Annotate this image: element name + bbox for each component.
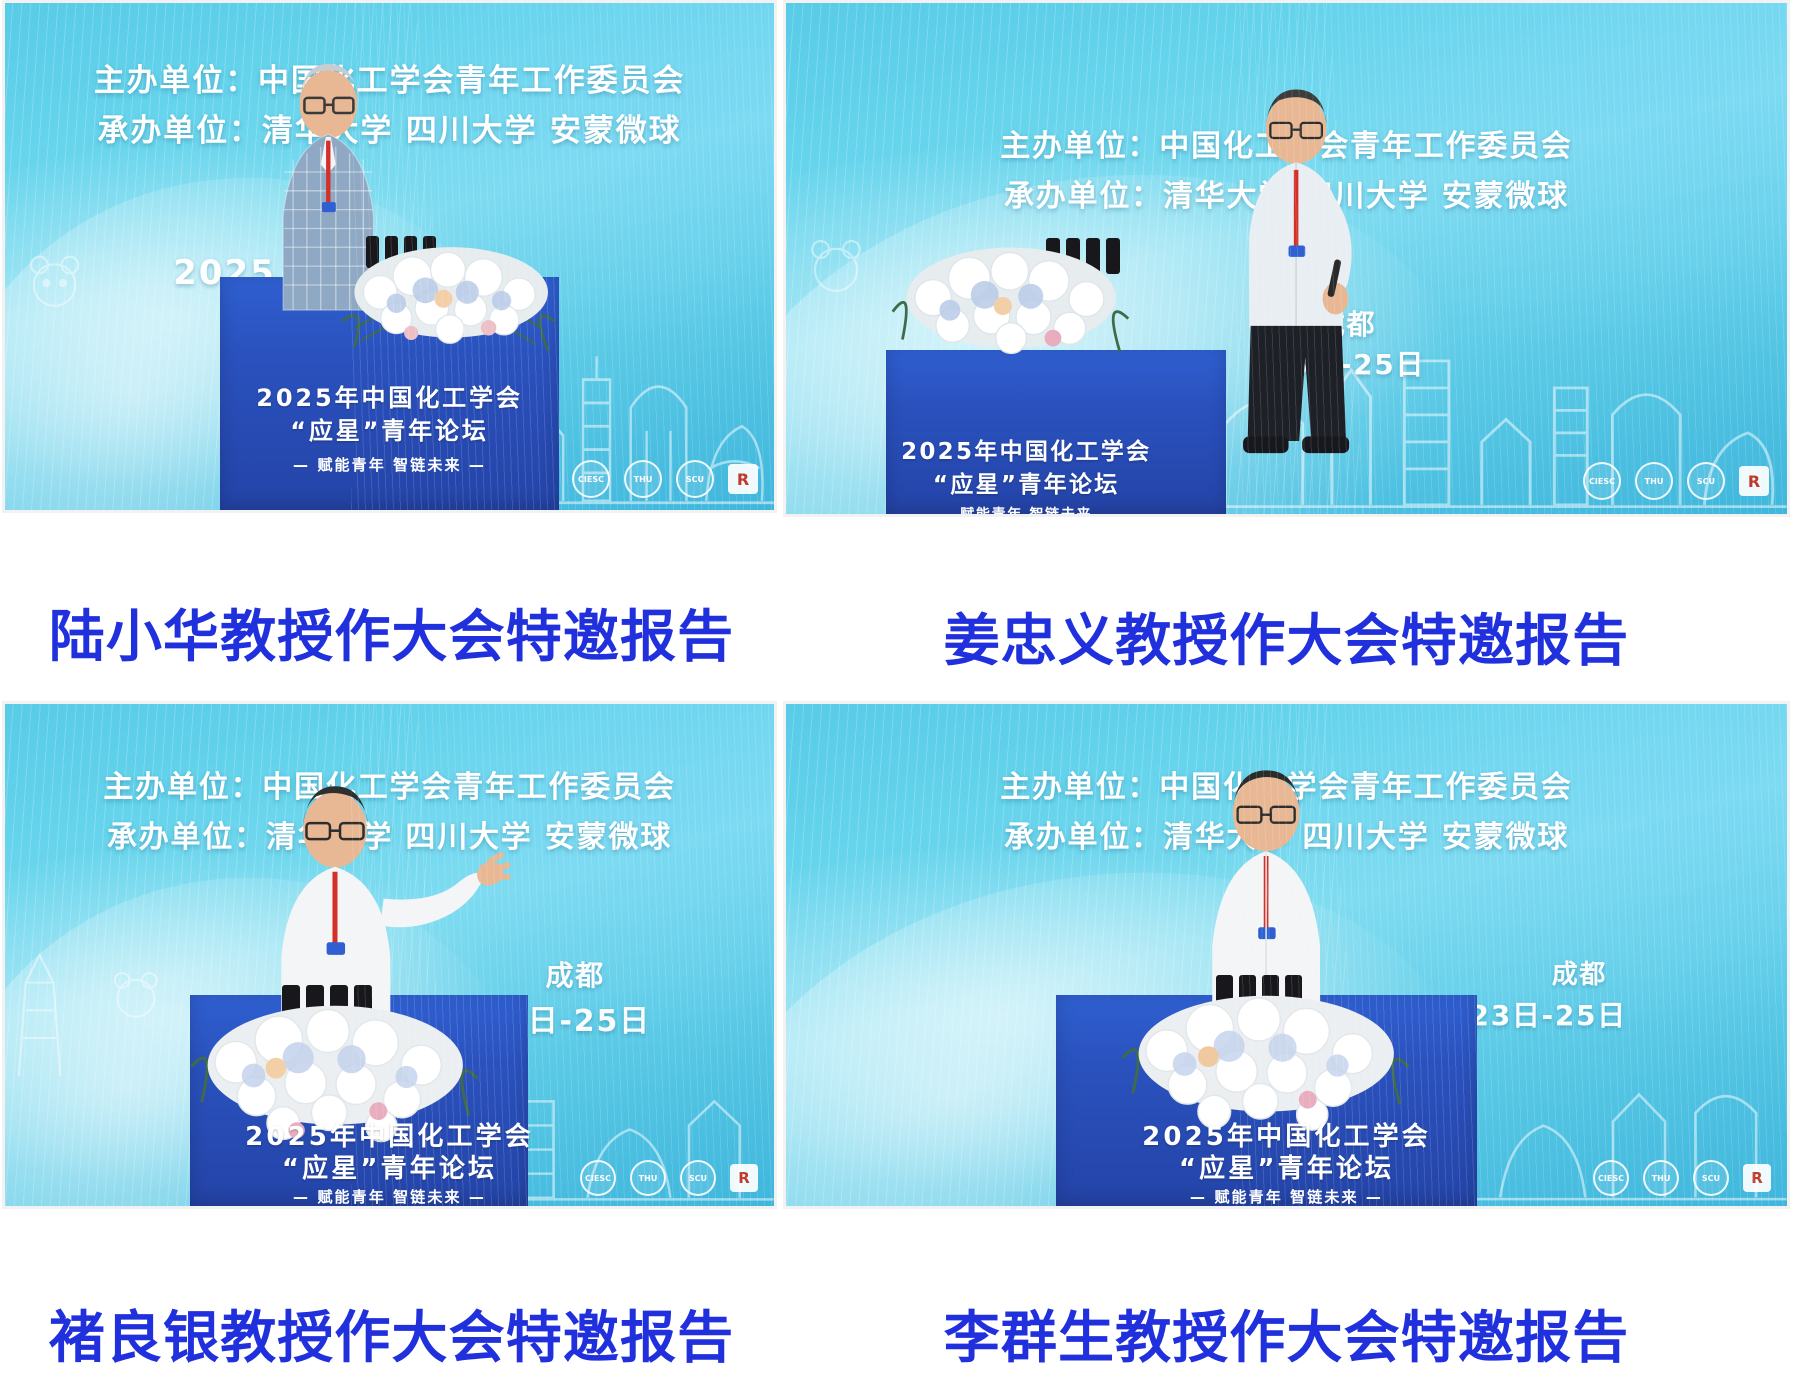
stage-host-line-2: 主办单位：中国化工学会青年工作委员会	[786, 121, 1787, 165]
ciesc-logo-icon: CIESC	[572, 460, 610, 498]
podium-slogan-3: — 赋能青年 智链未来 —	[5, 1186, 774, 1207]
stage-organizer-line-3: 承办单位：清华大学 四川大学 安蒙微球	[5, 812, 774, 856]
podium-logos-3: CIESC THU SCU R	[580, 1160, 758, 1196]
tsinghua-logo-icon: THU	[1643, 1160, 1679, 1196]
scu-logo-icon: SCU	[1687, 462, 1725, 500]
podium-title-line2-4: “应星”青年论坛	[786, 1148, 1787, 1185]
photo-card-4: 主办单位：中国化工学会青年工作委员会 承办单位：清华大学 四川大学 安蒙微球 成…	[783, 691, 1790, 1382]
stage-organizer-line-2: 承办单位：清华大学 四川大学 安蒙微球	[786, 171, 1787, 215]
podium-title-line1-1: 2025年中国化工学会	[5, 378, 774, 413]
photo-2: 主办单位：中国化工学会青年工作委员会 承办单位：清华大学 四川大学 安蒙微球 成…	[783, 0, 1790, 517]
podium-slogan-1: — 赋能青年 智链未来 —	[5, 454, 774, 475]
podium-title-line1-2: 2025年中国化工学会	[826, 432, 1226, 466]
podium-logos-2: CIESC THU SCU R	[1583, 462, 1769, 500]
caption-1: 陆小华教授作大会特邀报告	[0, 592, 783, 673]
caption-4: 李群生教授作大会特邀报告	[783, 1293, 1790, 1374]
stage-backdrop-1: 主办单位：中国化工学会青年工作委员会 承办单位：清华大学 四川大学 安蒙微球 2…	[5, 3, 774, 510]
flower-arrangement-2	[836, 228, 1186, 381]
tower-icon	[5, 935, 74, 1086]
anmeng-logo-icon: R	[1743, 1164, 1771, 1192]
ciesc-logo-icon: CIESC	[580, 1160, 616, 1196]
stage-organizer-line-4: 承办单位：清华大学 四川大学 安蒙微球	[786, 812, 1787, 856]
podium-title-line2-1: “应星”青年论坛	[5, 411, 774, 446]
stage-organizer-line-1: 承办单位：清华大学 四川大学 安蒙微球	[5, 105, 774, 150]
stage-host-line-4: 主办单位：中国化工学会青年工作委员会	[786, 762, 1787, 806]
photo-grid: 主办单位：中国化工学会青年工作委员会 承办单位：清华大学 四川大学 安蒙微球 2…	[0, 0, 1804, 1382]
anmeng-logo-icon: R	[728, 464, 758, 494]
podium-slogan-4: — 赋能青年 智链未来 —	[786, 1186, 1787, 1207]
photo-card-3: 主办单位：中国化工学会青年工作委员会 承办单位：清华大学 四川大学 安蒙微球 成…	[0, 691, 783, 1382]
tsinghua-logo-icon: THU	[624, 460, 662, 498]
anmeng-logo-icon: R	[1739, 466, 1769, 496]
tsinghua-logo-icon: THU	[630, 1160, 666, 1196]
stage-year-fragment-1: 2025	[2, 253, 774, 293]
photo-1: 主办单位：中国化工学会青年工作委员会 承办单位：清华大学 四川大学 安蒙微球 2…	[2, 0, 777, 513]
stage-date-line-3: 23日-25日	[482, 996, 651, 1040]
city-skyline-icon	[297, 277, 774, 510]
stage-backdrop-4: 主办单位：中国化工学会青年工作委员会 承办单位：清华大学 四川大学 安蒙微球 成…	[786, 704, 1787, 1206]
photo-4: 主办单位：中国化工学会青年工作委员会 承办单位：清华大学 四川大学 安蒙微球 成…	[783, 701, 1790, 1209]
scu-logo-icon: SCU	[676, 460, 714, 498]
flower-arrangement-1	[282, 231, 620, 373]
podium-title-line2-2: “应星”青年论坛	[826, 465, 1226, 499]
tsinghua-logo-icon: THU	[1635, 462, 1673, 500]
city-skyline-icon	[1206, 289, 1787, 514]
stage-city-line-4: 成都	[1552, 954, 1607, 991]
ciesc-logo-icon: CIESC	[1583, 462, 1621, 500]
caption-3: 褚良银教授作大会特邀报告	[0, 1293, 783, 1374]
stage-date-line-4: 23日-25日	[1470, 994, 1627, 1034]
podium-title-line1-4: 2025年中国化工学会	[786, 1116, 1787, 1153]
podium-title-line1-3: 2025年中国化工学会	[5, 1116, 774, 1153]
stage-city-line-3: 成都	[545, 954, 604, 994]
anmeng-logo-icon: R	[730, 1164, 758, 1192]
scu-logo-icon: SCU	[1693, 1160, 1729, 1196]
podium-title-line2-3: “应星”青年论坛	[5, 1148, 774, 1185]
photo-card-1: 主办单位：中国化工学会青年工作委员会 承办单位：清华大学 四川大学 安蒙微球 2…	[0, 0, 783, 691]
microphone-strip-1	[366, 236, 436, 268]
caption-2: 姜忠义教授作大会特邀报告	[783, 596, 1790, 677]
podium-logos-1: CIESC THU SCU R	[572, 460, 758, 498]
ciesc-logo-icon: CIESC	[1593, 1160, 1629, 1196]
stage-backdrop-2: 主办单位：中国化工学会青年工作委员会 承办单位：清华大学 四川大学 安蒙微球 成…	[786, 3, 1787, 514]
scu-logo-icon: SCU	[680, 1160, 716, 1196]
stage-backdrop-3: 主办单位：中国化工学会青年工作委员会 承办单位：清华大学 四川大学 安蒙微球 成…	[5, 704, 774, 1206]
podium-slogan-2: — 赋能青年 智链未来 —	[826, 504, 1226, 517]
stage-host-line-3: 主办单位：中国化工学会青年工作委员会	[5, 762, 774, 806]
photo-card-2: 主办单位：中国化工学会青年工作委员会 承办单位：清华大学 四川大学 安蒙微球 成…	[783, 0, 1790, 691]
stage-host-line-1: 主办单位：中国化工学会青年工作委员会	[5, 55, 774, 100]
photo-3: 主办单位：中国化工学会青年工作委员会 承办单位：清华大学 四川大学 安蒙微球 成…	[2, 701, 777, 1209]
city-skyline-icon	[1266, 995, 1787, 1206]
podium-logos-4: CIESC THU SCU R	[1593, 1160, 1771, 1196]
